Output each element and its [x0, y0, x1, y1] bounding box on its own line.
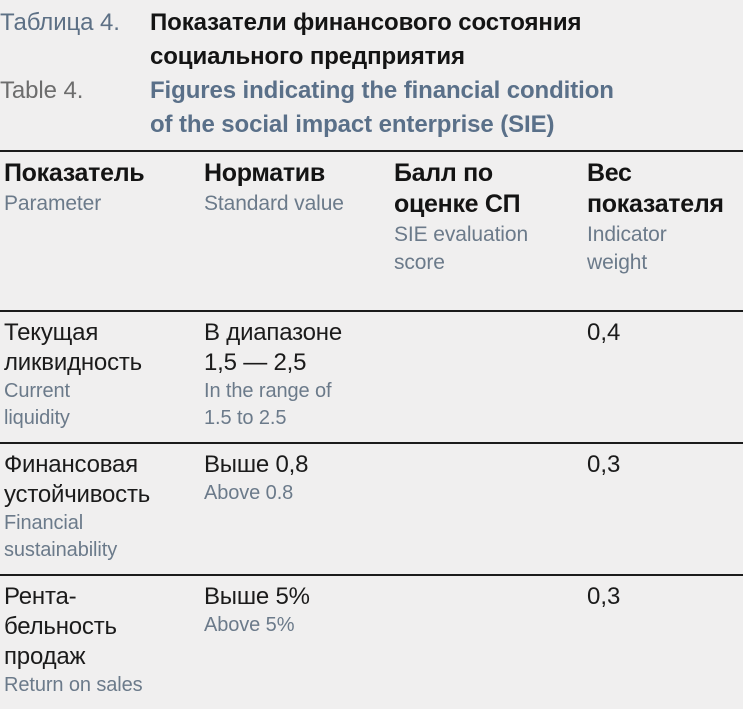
cell-parameter-ru: Текущая ликвидность	[4, 318, 192, 378]
column-header-indicator-weight-ru-line1: Вес	[587, 158, 735, 189]
caption-label-en: Table 4.	[0, 74, 150, 108]
table-header-row: Показатель Parameter Норматив Standard v…	[0, 152, 743, 312]
column-header-sie-score-ru: Балл по оценке СП	[394, 158, 575, 220]
column-header-indicator-weight-ru-line2: показателя	[587, 189, 735, 220]
cell-sie-score	[390, 312, 583, 442]
caption-title-en-line1: Figures indicating the financial conditi…	[150, 74, 614, 108]
cell-standard-value-en: In the range of 1.5 to 2.5	[204, 378, 382, 432]
column-header-indicator-weight-en-line2: weight	[587, 249, 735, 277]
cell-parameter-en-line1: Return on sales	[4, 672, 192, 699]
column-header-sie-score-ru-line2: оценке СП	[394, 189, 575, 220]
caption-title-ru: Показатели финансового состояния социаль…	[150, 6, 581, 74]
cell-parameter-en-line1: Current	[4, 378, 192, 405]
cell-parameter-ru-line2: устойчивость	[4, 480, 192, 510]
cell-indicator-weight-value: 0,3	[587, 582, 735, 612]
column-header-indicator-weight-ru: Вес показателя	[587, 158, 735, 220]
column-header-sie-score-en-line2: score	[394, 249, 575, 277]
cell-standard-value-en: Above 0.8	[204, 480, 382, 507]
cell-indicator-weight: 0,4	[583, 312, 743, 442]
column-header-indicator-weight-en: Indicator weight	[587, 221, 735, 277]
cell-parameter-ru-line2: ликвидность	[4, 348, 192, 378]
cell-standard-value-ru: Выше 5%	[204, 582, 382, 612]
caption-title-en-line2: of the social impact enterprise (SIE)	[150, 108, 614, 142]
cell-standard-value-ru-line1: Выше 5%	[204, 582, 382, 612]
caption-line-en: Table 4. Figures indicating the financia…	[0, 74, 743, 142]
cell-standard-value: Выше 5% Above 5%	[200, 576, 390, 709]
column-header-indicator-weight-en-line1: Indicator	[587, 221, 735, 249]
column-header-standard-value-ru: Норматив	[204, 158, 382, 189]
cell-parameter-en: Current liquidity	[4, 378, 192, 432]
column-header-indicator-weight: Вес показателя Indicator weight	[583, 152, 743, 310]
table-row: Рента- бельность продаж Return on sales …	[0, 576, 743, 709]
cell-indicator-weight-value: 0,3	[587, 450, 735, 480]
cell-parameter-ru: Рента- бельность продаж	[4, 582, 192, 672]
cell-standard-value-en-line1: Above 0.8	[204, 480, 382, 507]
cell-parameter-ru: Финансовая устойчивость	[4, 450, 192, 510]
cell-parameter-en: Return on sales	[4, 672, 192, 699]
caption-label-ru: Таблица 4.	[0, 6, 150, 40]
cell-standard-value-en-line1: In the range of	[204, 378, 382, 405]
cell-parameter: Финансовая устойчивость Financial sustai…	[0, 444, 200, 574]
table-page: Таблица 4. Показатели финансового состоя…	[0, 0, 743, 707]
cell-indicator-weight-value: 0,4	[587, 318, 735, 348]
column-header-parameter: Показатель Parameter	[0, 152, 200, 310]
cell-parameter-ru-line3: продаж	[4, 642, 192, 672]
cell-standard-value-ru: В диапазоне 1,5 — 2,5	[204, 318, 382, 378]
caption-title-ru-line1: Показатели финансового состояния	[150, 6, 581, 40]
cell-parameter-ru-line1: Финансовая	[4, 450, 192, 480]
cell-standard-value-en: Above 5%	[204, 612, 382, 639]
cell-standard-value-en-line1: Above 5%	[204, 612, 382, 639]
caption-title-ru-line2: социального предприятия	[150, 40, 581, 74]
column-header-parameter-en: Parameter	[4, 190, 192, 218]
cell-parameter-en-line2: liquidity	[4, 405, 192, 432]
column-header-parameter-ru: Показатель	[4, 158, 192, 189]
column-header-sie-score-ru-line1: Балл по	[394, 158, 575, 189]
cell-standard-value: Выше 0,8 Above 0.8	[200, 444, 390, 574]
caption-line-ru: Таблица 4. Показатели финансового состоя…	[0, 6, 743, 74]
cell-standard-value-ru-line1: В диапазоне	[204, 318, 382, 348]
column-header-sie-score-en-line1: SIE evaluation	[394, 221, 575, 249]
table-row: Текущая ликвидность Current liquidity В …	[0, 312, 743, 444]
column-header-standard-value: Норматив Standard value	[200, 152, 390, 310]
cell-standard-value-ru-line1: Выше 0,8	[204, 450, 382, 480]
cell-indicator-weight: 0,3	[583, 444, 743, 574]
cell-sie-score	[390, 576, 583, 709]
cell-standard-value-ru: Выше 0,8	[204, 450, 382, 480]
column-header-standard-value-en: Standard value	[204, 190, 382, 218]
table-row: Финансовая устойчивость Financial sustai…	[0, 444, 743, 576]
cell-parameter: Рента- бельность продаж Return on sales	[0, 576, 200, 709]
caption-title-en: Figures indicating the financial conditi…	[150, 74, 614, 142]
financial-indicators-table: Показатель Parameter Норматив Standard v…	[0, 150, 743, 709]
cell-parameter-ru-line2: бельность	[4, 612, 192, 642]
column-header-sie-score-en: SIE evaluation score	[394, 221, 575, 277]
cell-parameter-ru-line1: Текущая	[4, 318, 192, 348]
table-caption: Таблица 4. Показатели финансового состоя…	[0, 0, 743, 142]
cell-parameter-ru-line1: Рента-	[4, 582, 192, 612]
cell-standard-value: В диапазоне 1,5 — 2,5 In the range of 1.…	[200, 312, 390, 442]
cell-standard-value-ru-line2: 1,5 — 2,5	[204, 348, 382, 378]
cell-parameter-en: Financial sustainability	[4, 510, 192, 564]
cell-standard-value-en-line2: 1.5 to 2.5	[204, 405, 382, 432]
cell-parameter-en-line2: sustainability	[4, 537, 192, 564]
column-header-sie-score: Балл по оценке СП SIE evaluation score	[390, 152, 583, 310]
cell-sie-score	[390, 444, 583, 574]
cell-parameter: Текущая ликвидность Current liquidity	[0, 312, 200, 442]
cell-parameter-en-line1: Financial	[4, 510, 192, 537]
cell-indicator-weight: 0,3	[583, 576, 743, 709]
